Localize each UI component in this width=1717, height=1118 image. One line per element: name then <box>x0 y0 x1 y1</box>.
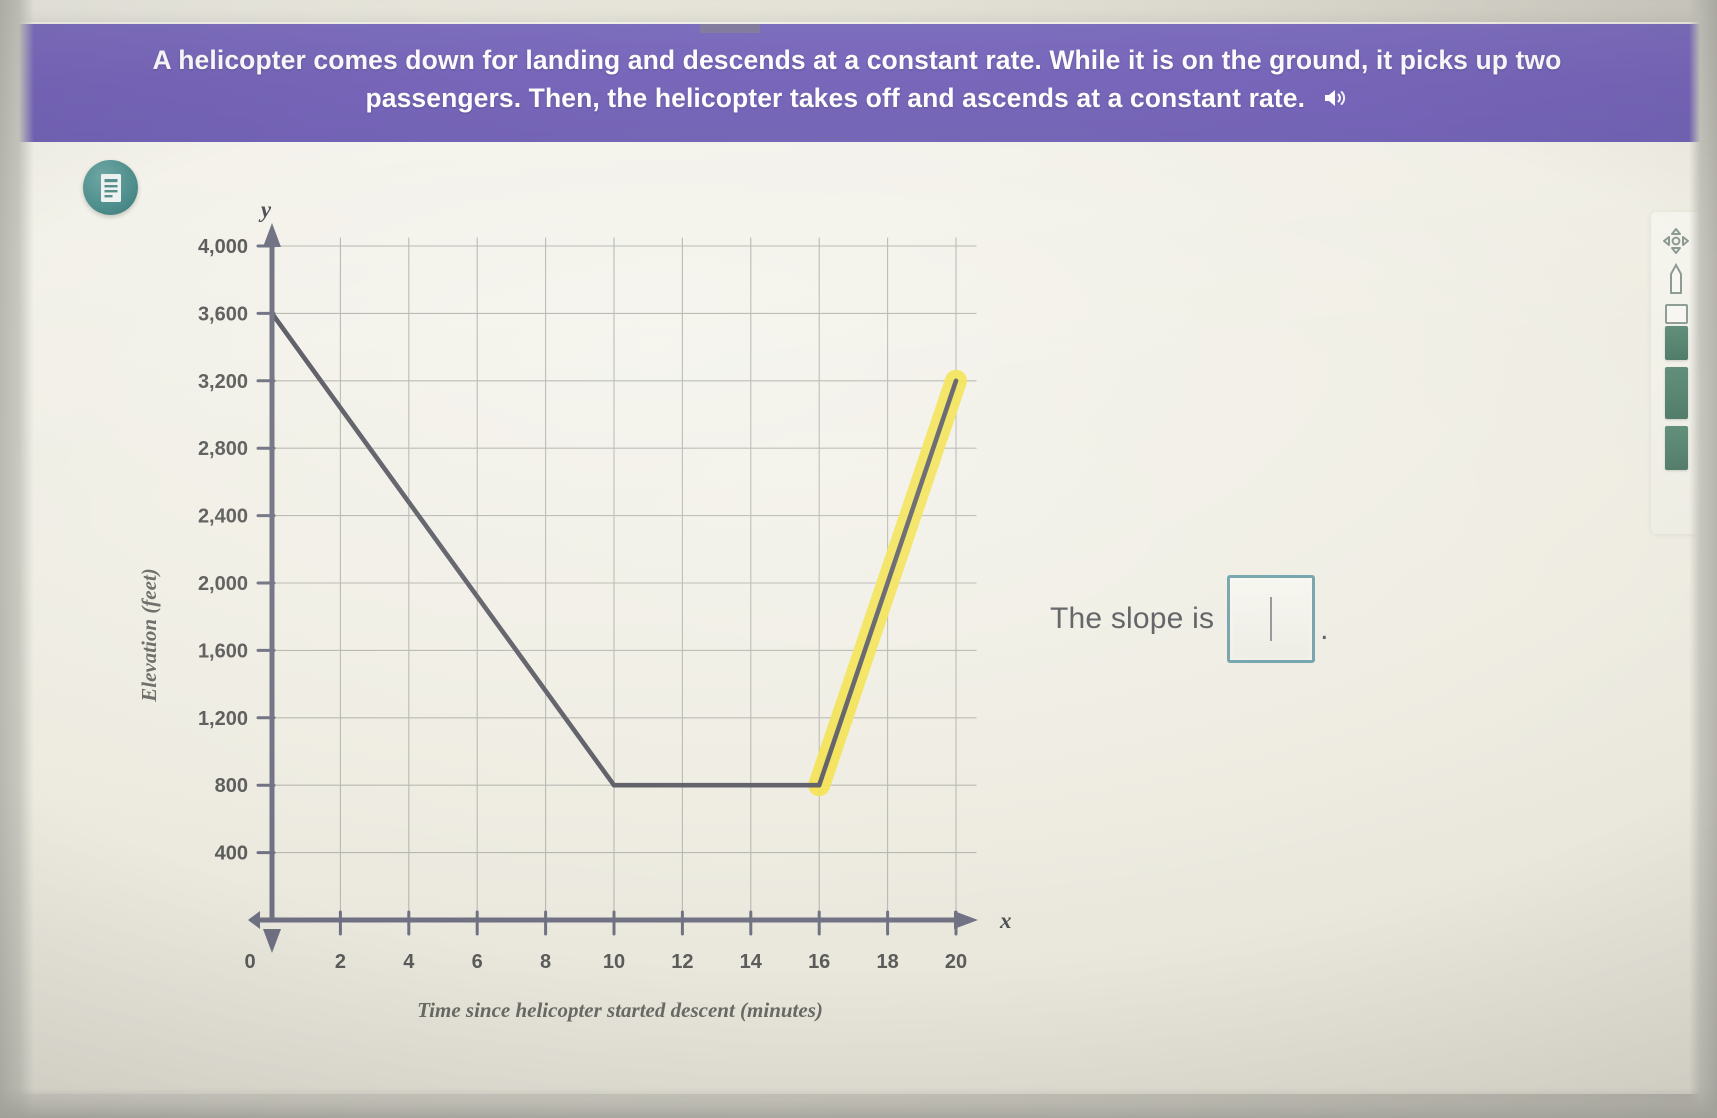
y-tick-label: 2,400 <box>198 506 248 528</box>
move-tool[interactable] <box>1661 226 1691 256</box>
pen-nib-icon <box>1667 263 1685 297</box>
y-tick-label: 3,200 <box>198 371 248 393</box>
x-tick-label: 2 <box>335 951 346 973</box>
x-axis-name: x <box>999 908 1012 933</box>
grid-lines <box>272 238 977 920</box>
answer-period: . <box>1320 613 1328 663</box>
x-axis-title: Time since helicopter started descent (m… <box>417 998 823 1022</box>
x-tick-label: 18 <box>876 951 898 973</box>
y-tick-label: 3,600 <box>198 303 248 325</box>
y-tick-label: 400 <box>215 843 248 865</box>
segment-1[interactable] <box>1665 326 1688 360</box>
photo-edge-bottom <box>0 1088 1717 1118</box>
pen-tool[interactable] <box>1667 263 1685 297</box>
y-tick-label: 1,200 <box>198 708 248 730</box>
y-tick-label: 2,800 <box>198 438 248 460</box>
x-tick-label: 4 <box>403 951 415 973</box>
x-tick-label: 14 <box>740 951 763 973</box>
speaker-audio-icon[interactable] <box>1322 82 1349 120</box>
answer-row: The slope is . <box>1050 575 1329 663</box>
x-tick-label: 12 <box>671 951 693 973</box>
series-line <box>272 313 614 785</box>
elevation-graph: 4008001,2001,6002,0002,4002,8003,2003,60… <box>120 195 1040 1025</box>
x-tick-label: 0 <box>244 951 255 973</box>
segment-3[interactable] <box>1665 426 1688 470</box>
eraser-tool[interactable] <box>1665 304 1688 324</box>
axes <box>248 223 978 953</box>
y-axis-ticks: 4008001,2001,6002,0002,4002,8003,2003,60… <box>198 236 274 865</box>
x-tick-label: 10 <box>603 951 625 973</box>
y-tick-label: 4,000 <box>198 236 248 258</box>
y-tick-label: 1,600 <box>198 640 248 662</box>
prompt-text: A helicopter comes down for landing and … <box>96 42 1618 119</box>
y-tick-label: 2,000 <box>198 573 248 595</box>
photo-edge-right <box>1689 0 1717 1118</box>
x-tick-label: 20 <box>945 951 967 973</box>
y-tick-label: 800 <box>215 775 248 797</box>
four-way-arrow-icon <box>1661 226 1691 256</box>
x-tick-label: 16 <box>808 951 830 973</box>
banner-notch <box>700 24 760 33</box>
y-axis-name: y <box>258 197 272 222</box>
prompt-sentence: A helicopter comes down for landing and … <box>153 45 1562 113</box>
answer-label: The slope is <box>1050 602 1214 636</box>
segment-2[interactable] <box>1665 367 1688 419</box>
text-caret <box>1270 597 1272 641</box>
y-axis-title: Elevation (feet) <box>137 568 161 703</box>
prompt-banner: A helicopter comes down for landing and … <box>10 24 1704 142</box>
graph-svg: 4008001,2001,6002,0002,4002,8003,2003,60… <box>120 195 1040 1025</box>
x-tick-label: 8 <box>540 951 551 973</box>
x-tick-label: 6 <box>472 951 483 973</box>
photo-edge-left <box>0 0 34 1118</box>
slope-input[interactable] <box>1227 575 1315 663</box>
